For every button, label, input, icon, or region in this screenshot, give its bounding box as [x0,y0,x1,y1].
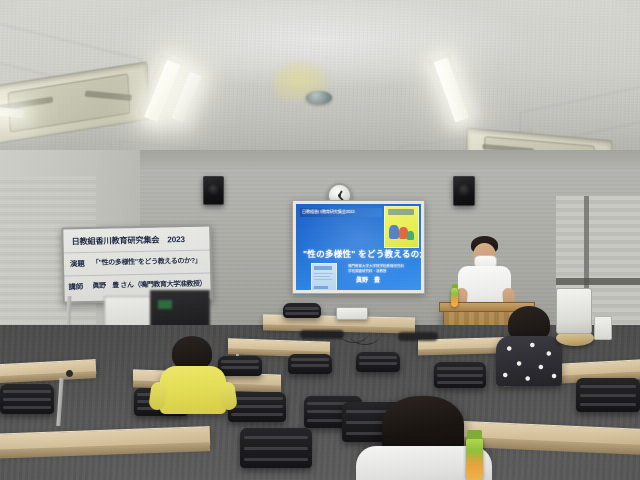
paper-cup [594,316,612,340]
floor-equipment-case [398,332,438,341]
chair-front-table [283,303,321,318]
clock-center [338,194,341,197]
chair-right-a [434,362,486,388]
chair-row1-c [356,352,400,372]
audience-left-hair [172,336,212,370]
slide-credit-line1: 鳴門教育大学大学院学校教育研究科 [348,264,404,269]
wall-speaker-right [453,176,475,206]
green-tea-bottle-foreground [466,438,483,480]
whiteboard-lecturer-label: 講師 [68,281,83,292]
slide-book-cover-image [384,206,419,248]
whiteboard-topic-value: 「"性の多様性"をどう教えるのか?」 [92,256,202,268]
caster-wheel [66,370,73,377]
slide-header-badge-chip [384,208,406,217]
lecture-hall-photo: 日教組香川教育研究集会2023 全体会 "性の多様性" をどう教えるのか? [0,0,640,480]
chair-foreground-left [240,428,312,468]
projection-screen: 日教組香川教育研究集会2023 全体会 "性の多様性" をどう教えるのか? [292,200,425,294]
slide-credit-line2: 学校調査研究科・准教授 [348,269,386,274]
green-tea-bottle-podium [451,288,458,307]
equipment-indicator [158,300,172,309]
slide-main-title: "性の多様性" をどう教えるのか? [303,248,421,260]
slide-credit-name: 眞野 豊 [356,275,380,284]
chair-row1-b [288,354,332,374]
wall-speaker-left [203,176,224,205]
ceiling-smoke-detector [306,91,332,104]
audience-member-patterned-top [496,336,562,386]
device-cable-b [348,318,382,345]
chair-right-b [576,378,640,412]
air-purifier [556,288,592,334]
whiteboard-topic-label: 演題 [70,258,85,269]
slide-header-text: 日教組香川教育研究集会2023 [302,209,354,215]
bottle-cap-foreground [467,430,482,439]
floor-cable-bundle [300,330,344,339]
audience-member-yellow-top [160,366,226,414]
slide-document-thumbnail [311,263,337,290]
chair-row2-b [228,392,286,422]
bottle-cap-podium [452,284,458,288]
slide-header-badge: 全体会 [386,209,399,215]
chair-row1-a [218,356,262,376]
slide-header-band [300,208,382,217]
whiteboard-title: 日教組香川教育研究集会 2023 [71,233,184,247]
blind-rail [556,278,640,285]
projected-slide: 日教組香川教育研究集会2023 全体会 "性の多様性" をどう教えるのか? [296,204,421,290]
chair-left-edge [0,384,54,414]
